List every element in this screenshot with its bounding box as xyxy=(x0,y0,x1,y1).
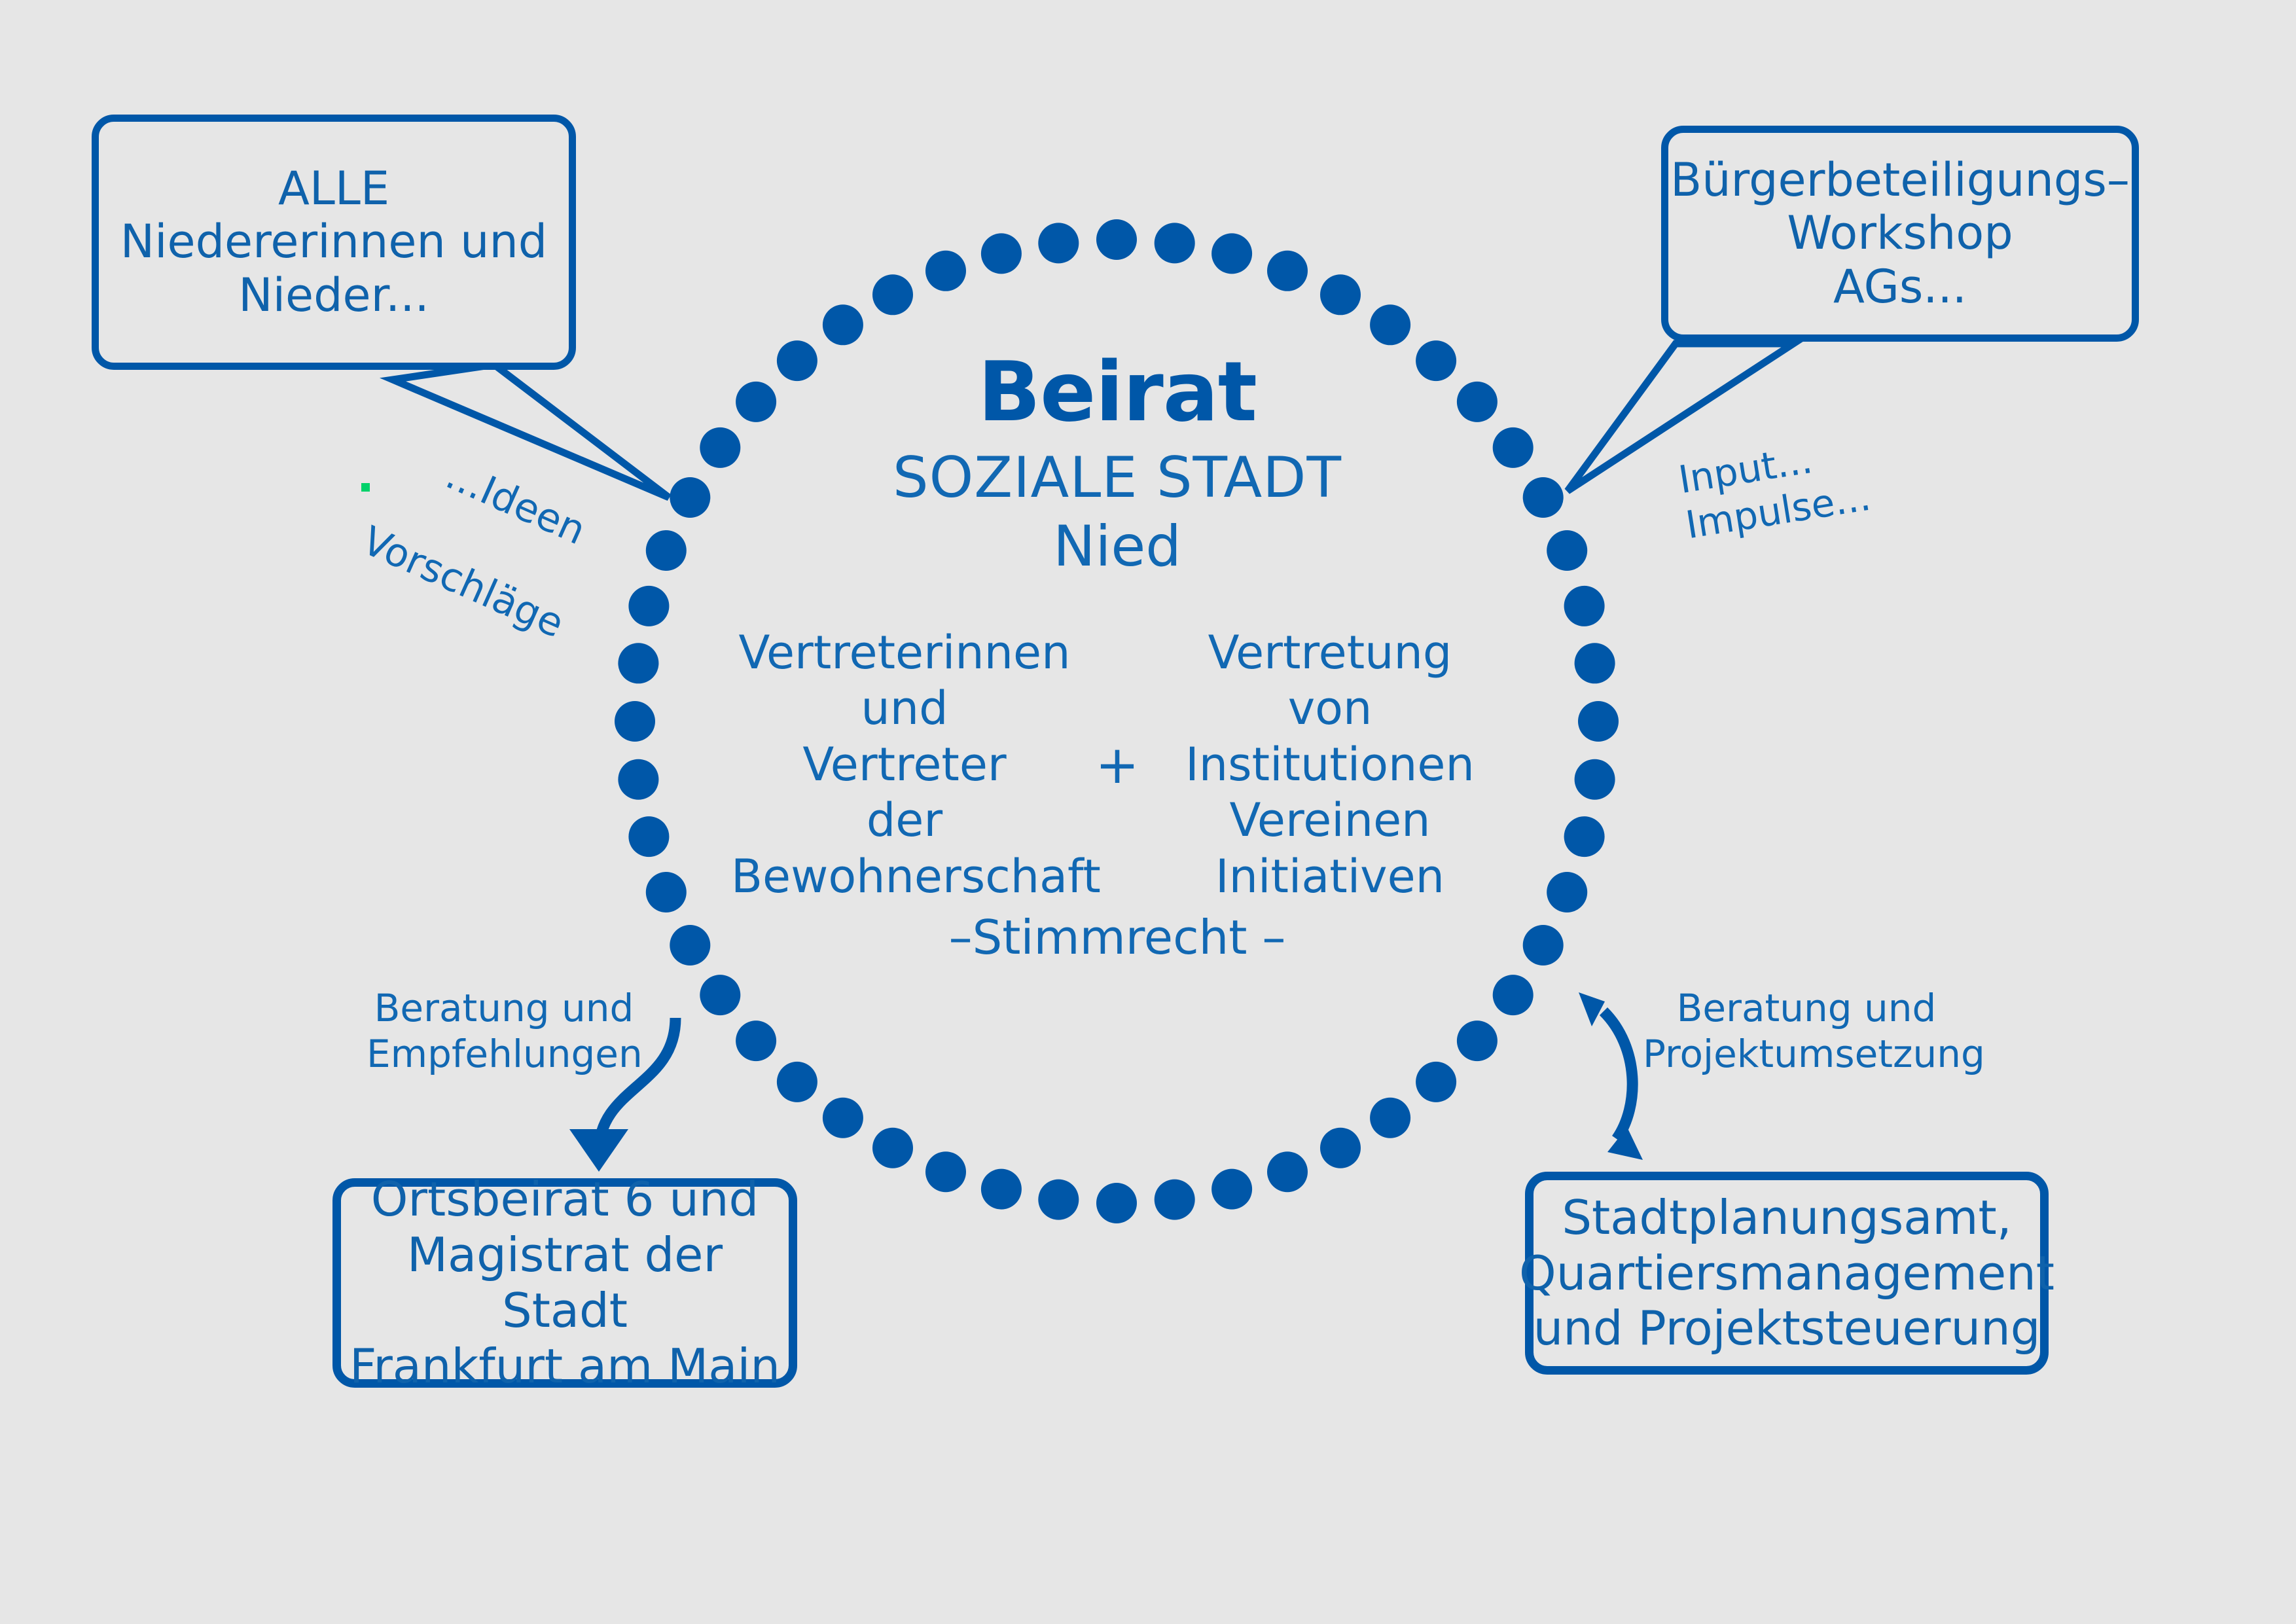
circle-dot xyxy=(646,872,687,912)
circle-dot xyxy=(777,340,817,381)
bubble-left-tail xyxy=(393,365,669,497)
circle-dot xyxy=(615,701,655,742)
circle-dot xyxy=(1493,427,1534,468)
beratung-links-line-1: Beratung und xyxy=(367,986,641,1032)
arrow-double-right xyxy=(1604,1011,1632,1139)
circle-dot xyxy=(777,1062,817,1102)
circle-dot xyxy=(1038,223,1079,263)
box-left-line-3: Frankfurt am Main xyxy=(341,1339,789,1394)
arrowhead-down-left xyxy=(569,1129,628,1172)
bubble-participation[interactable]: Bürgerbeteiligungs– Workshop AGs... xyxy=(1661,126,2139,342)
beratung-rechts-line-2: Projektumsetzung xyxy=(1643,1032,1970,1077)
arrowhead-up-right xyxy=(1579,992,1605,1026)
circle-dot xyxy=(981,233,1022,274)
box-left-line-1: Ortsbeirat 6 und xyxy=(341,1172,789,1227)
bubble-left-line-2: Niedererinnen und xyxy=(99,215,569,268)
circle-dot xyxy=(823,304,863,345)
circle-dot xyxy=(1547,530,1587,571)
circle-dot xyxy=(1523,477,1564,518)
box-right-line-1: Stadtplanungsamt, xyxy=(1519,1190,2054,1246)
box-ortsbeirat[interactable]: Ortsbeirat 6 und Magistrat der Stadt Fra… xyxy=(332,1178,797,1388)
box-stadtplanungsamt[interactable]: Stadtplanungsamt, Quartiersmanagement un… xyxy=(1525,1172,2049,1375)
circle-dot xyxy=(1211,233,1252,274)
circle-dot xyxy=(1457,1020,1498,1061)
circle-dot xyxy=(1578,701,1619,742)
bubble-left-line-1: ALLE xyxy=(99,162,569,215)
diagram-canvas: ALLE Niedererinnen und Nieder... Bürgerb… xyxy=(0,0,2296,1624)
circle-dot xyxy=(823,1098,863,1138)
circle-dot xyxy=(1320,274,1361,315)
green-speck-icon xyxy=(361,483,370,492)
box-right-line-2: Quartiersmanagement xyxy=(1519,1246,2054,1301)
circle-dot xyxy=(925,1151,966,1192)
circle-dot xyxy=(872,1128,913,1168)
bubble-right-line-3: AGs... xyxy=(1668,261,2132,314)
circle-dot xyxy=(1523,925,1564,965)
circle-dot xyxy=(1096,219,1137,260)
box-right-line-3: und Projektsteuerung xyxy=(1519,1301,2054,1356)
circle-dot xyxy=(1370,1098,1410,1138)
bubble-right-line-1: Bürgerbeteiligungs– xyxy=(1668,154,2132,207)
circle-dot xyxy=(1370,304,1410,345)
beratung-links-line-2: Empfehlungen xyxy=(367,1032,641,1077)
label-beratung-empfehlungen: Beratung und Empfehlungen xyxy=(367,986,641,1077)
label-beratung-projektumsetzung: Beratung und Projektumsetzung xyxy=(1643,986,1970,1077)
circle-dot xyxy=(700,975,740,1015)
circle-dot xyxy=(1564,816,1605,857)
circle-dot xyxy=(1493,975,1534,1015)
circle-dot xyxy=(646,530,687,571)
circle-dot xyxy=(1155,1180,1195,1220)
circle-dot xyxy=(981,1169,1022,1210)
circle-dot xyxy=(1096,1183,1137,1223)
circle-dot xyxy=(736,1020,776,1061)
circle-dot xyxy=(628,586,669,626)
circle-dot xyxy=(736,382,776,422)
beratung-rechts-line-1: Beratung und xyxy=(1643,986,1970,1032)
circle-dot xyxy=(1457,382,1498,422)
circle-dot xyxy=(1211,1169,1252,1210)
bubble-right-line-2: Workshop xyxy=(1668,207,2132,260)
circle-dot xyxy=(1320,1128,1361,1168)
circle-dot xyxy=(925,251,966,291)
bubble-residents[interactable]: ALLE Niedererinnen und Nieder... xyxy=(92,115,576,370)
circle-dot xyxy=(1416,340,1456,381)
box-left-line-2: Magistrat der Stadt xyxy=(341,1227,789,1339)
circle-dot xyxy=(670,477,710,518)
arrowhead-down-right xyxy=(1607,1127,1643,1160)
circle-dot xyxy=(1547,872,1587,912)
circle-dot xyxy=(1416,1062,1456,1102)
circle-dot xyxy=(1564,586,1605,626)
circle-dot xyxy=(1155,223,1195,263)
circle-dot xyxy=(872,274,913,315)
circle-dot xyxy=(628,816,669,857)
circle-dot xyxy=(618,759,658,800)
dotted-circle xyxy=(615,219,1619,1223)
bubble-left-line-3: Nieder... xyxy=(99,269,569,322)
circle-dot xyxy=(618,643,658,683)
circle-dot xyxy=(1575,759,1615,800)
circle-dot xyxy=(700,427,740,468)
circle-dot xyxy=(1575,643,1615,683)
circle-dot xyxy=(1038,1180,1079,1220)
circle-dot xyxy=(1267,251,1308,291)
circle-dot xyxy=(1267,1151,1308,1192)
circle-dot xyxy=(670,925,710,965)
